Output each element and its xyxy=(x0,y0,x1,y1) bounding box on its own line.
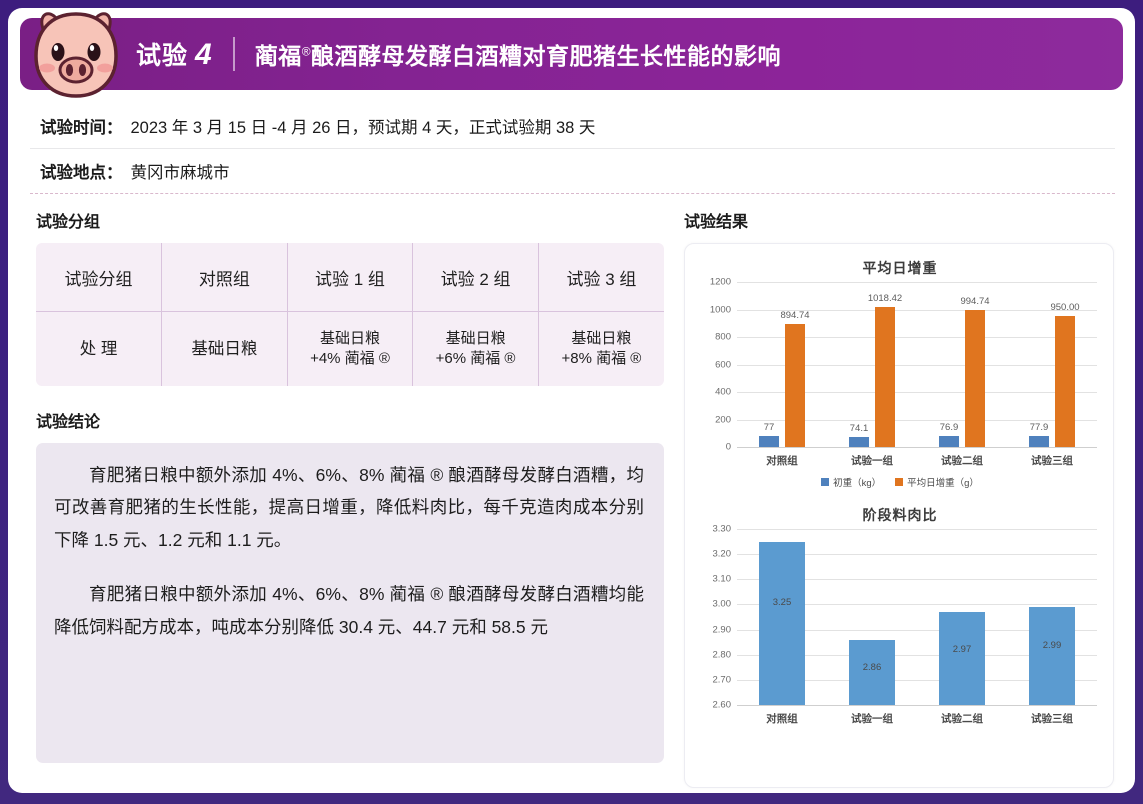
table-cell-treatment: 基础日粮 +4% 蔺福 ® xyxy=(287,312,413,387)
page-title-brand: 蔺福 xyxy=(255,43,302,69)
chart-bar-value-label: 77 xyxy=(764,422,775,433)
experiment-number: 4 xyxy=(195,38,213,72)
results-section-title: 试验结果 xyxy=(684,208,1116,232)
table-header-cell: 试验 2 组 xyxy=(413,243,539,312)
conclusion-paragraph: 育肥猪日粮中额外添加 4%、6%、8% 蔺福 ® 酿酒酵母发酵白酒糟，均可改善育… xyxy=(54,459,644,556)
page-header: 试验 4 蔺福®酿酒酵母发酵白酒糟对育肥猪生长性能的影响 xyxy=(20,18,1123,90)
left-column: 试验分组 试验分组 对照组 试验 1 组 试验 2 组 试验 3 组 处 理 基… xyxy=(36,208,666,763)
chart-legend-swatch xyxy=(821,478,829,486)
chart-plot-area: 12001000800600400200077894.7474.11018.42… xyxy=(737,282,1097,447)
chart-bar-value-label: 2.99 xyxy=(1043,640,1062,651)
meta-time-value: 2023 年 3 月 15 日 -4 月 26 日，预试期 4 天，正式试验期 … xyxy=(131,114,596,138)
chart-legend-swatch xyxy=(895,478,903,486)
chart-x-tick-label: 试验三组 xyxy=(1007,711,1097,726)
meta-row-time: 试验时间： 2023 年 3 月 15 日 -4 月 26 日，预试期 4 天，… xyxy=(30,104,1115,149)
chart-bar-group: 2.97 xyxy=(917,529,1007,705)
chart-bar-group: 3.25 xyxy=(737,529,827,705)
chart-y-tick-label: 3.10 xyxy=(713,574,732,585)
table-header-cell: 对照组 xyxy=(162,243,288,312)
chart-bar[interactable]: 2.86 xyxy=(849,640,895,705)
chart-legend: 初重（kg）平均日增重（g） xyxy=(693,475,1107,489)
chart-x-tick-label: 试验一组 xyxy=(827,453,917,468)
chart-bar-value-label: 950.00 xyxy=(1050,302,1079,313)
treatment-line2: +4% 蔺福 ® xyxy=(310,350,390,367)
chart-y-tick-label: 3.30 xyxy=(713,524,732,535)
chart-bar-group: 76.9994.74 xyxy=(917,282,1007,447)
chart-x-tick-label: 对照组 xyxy=(737,453,827,468)
chart-y-tick-label: 200 xyxy=(715,414,731,425)
meta-place-label: 试验地点： xyxy=(40,159,123,183)
chart-bar[interactable]: 1018.42 xyxy=(875,307,895,447)
right-column: 试验结果 平均日增重 12001000800600400200077894.74… xyxy=(684,208,1116,788)
chart-bar[interactable]: 894.74 xyxy=(785,324,805,447)
table-cell-treatment: 基础日粮 +6% 蔺福 ® xyxy=(413,312,539,387)
chart-bar-value-label: 894.74 xyxy=(780,310,809,321)
chart-y-tick-label: 1200 xyxy=(710,277,731,288)
chart-bar-group: 2.86 xyxy=(827,529,917,705)
chart-y-tick-label: 600 xyxy=(715,359,731,370)
content-card: 试验 4 蔺福®酿酒酵母发酵白酒糟对育肥猪生长性能的影响 xyxy=(8,8,1135,793)
chart-bar[interactable]: 950.00 xyxy=(1055,316,1075,447)
chart-x-axis: 对照组试验一组试验二组试验三组 xyxy=(737,705,1097,726)
meta-place-value: 黄冈市麻城市 xyxy=(131,159,230,183)
chart-plot-area: 3.303.203.103.002.902.802.702.603.252.86… xyxy=(737,529,1097,705)
conclusion-box: 育肥猪日粮中额外添加 4%、6%、8% 蔺福 ® 酿酒酵母发酵白酒糟，均可改善育… xyxy=(36,443,664,763)
chart-bars: 3.252.862.972.99 xyxy=(737,529,1097,705)
chart-bars: 77894.7474.11018.4276.9994.7477.9950.00 xyxy=(737,282,1097,447)
chart-title: 阶段料肉比 xyxy=(693,505,1107,525)
experiment-label: 试验 4 xyxy=(136,36,213,72)
outer-frame: 试验 4 蔺福®酿酒酵母发酵白酒糟对育肥猪生长性能的影响 xyxy=(0,0,1143,804)
chart-bar-group: 77.9950.00 xyxy=(1007,282,1097,447)
table-row-label: 处 理 xyxy=(36,312,162,387)
chart-bar-group: 74.11018.42 xyxy=(827,282,917,447)
conclusion-section-title: 试验结论 xyxy=(36,408,666,432)
chart-x-axis: 对照组试验一组试验二组试验三组 xyxy=(737,447,1097,468)
table-header-cell: 试验 1 组 xyxy=(287,243,413,312)
chart-bar[interactable]: 994.74 xyxy=(965,310,985,447)
chart-bar[interactable]: 2.97 xyxy=(939,612,985,705)
chart-y-tick-label: 2.70 xyxy=(713,674,732,685)
chart-bar-group: 77894.74 xyxy=(737,282,827,447)
chart-average-daily-gain: 平均日增重 12001000800600400200077894.7474.11… xyxy=(693,258,1107,489)
chart-y-tick-label: 400 xyxy=(715,387,731,398)
experiment-label-text: 试验 xyxy=(136,36,188,72)
chart-bar-value-label: 3.25 xyxy=(773,597,792,608)
table-cell-treatment: 基础日粮 xyxy=(162,312,288,387)
chart-bar[interactable]: 2.99 xyxy=(1029,607,1075,705)
meta-time-label: 试验时间： xyxy=(40,114,123,138)
chart-feed-conversion-ratio: 阶段料肉比 3.303.203.103.002.902.802.702.603.… xyxy=(693,505,1107,726)
page-title: 蔺福®酿酒酵母发酵白酒糟对育肥猪生长性能的影响 xyxy=(255,37,781,71)
chart-bar[interactable]: 3.25 xyxy=(759,542,805,705)
chart-bar-value-label: 74.1 xyxy=(850,423,869,434)
experiment-groups-table: 试验分组 对照组 试验 1 组 试验 2 组 试验 3 组 处 理 基础日粮 基… xyxy=(36,243,664,386)
chart-y-tick-label: 2.80 xyxy=(713,649,732,660)
chart-x-tick-label: 试验三组 xyxy=(1007,453,1097,468)
table-header-row: 试验分组 对照组 试验 1 组 试验 2 组 试验 3 组 xyxy=(36,243,664,312)
chart-legend-item[interactable]: 初重（kg） xyxy=(821,475,881,489)
chart-bar[interactable]: 74.1 xyxy=(849,437,869,447)
chart-y-tick-label: 800 xyxy=(715,332,731,343)
conclusion-paragraph: 育肥猪日粮中额外添加 4%、6%、8% 蔺福 ® 酿酒酵母发酵白酒糟均能降低饲料… xyxy=(54,578,644,643)
table-header-cell: 试验分组 xyxy=(36,243,162,312)
chart-legend-label: 初重（kg） xyxy=(833,475,881,489)
chart-bar-group: 2.99 xyxy=(1007,529,1097,705)
meta-row-place-subject: 试验地点： 黄冈市麻城市 试验对象： 76.5kg 左右生长猪 84 头 xyxy=(30,149,1115,194)
chart-x-tick-label: 试验二组 xyxy=(917,453,1007,468)
chart-bar-value-label: 1018.42 xyxy=(868,293,902,304)
chart-x-tick-label: 试验二组 xyxy=(917,711,1007,726)
treatment-line1: 基础日粮 xyxy=(446,330,506,347)
registered-mark-icon: ® xyxy=(302,44,311,58)
chart-y-tick-label: 3.00 xyxy=(713,599,732,610)
table-cell-treatment: 基础日粮 +8% 蔺福 ® xyxy=(538,312,664,387)
results-chart-card: 平均日增重 12001000800600400200077894.7474.11… xyxy=(684,243,1114,788)
chart-x-tick-label: 试验一组 xyxy=(827,711,917,726)
chart-bar[interactable]: 77.9 xyxy=(1029,436,1049,447)
chart-legend-item[interactable]: 平均日增重（g） xyxy=(895,475,979,489)
chart-x-tick-label: 对照组 xyxy=(737,711,827,726)
chart-bar-value-label: 76.9 xyxy=(940,422,959,433)
groups-section-title: 试验分组 xyxy=(36,208,666,232)
treatment-line1: 基础日粮 xyxy=(320,330,380,347)
chart-bar[interactable]: 77 xyxy=(759,436,779,447)
chart-bar-value-label: 77.9 xyxy=(1030,422,1049,433)
table-header-cell: 试验 3 组 xyxy=(538,243,664,312)
chart-legend-label: 平均日增重（g） xyxy=(907,475,979,489)
table-row: 处 理 基础日粮 基础日粮 +4% 蔺福 ® 基础日粮 +6% 蔺福 ® 基础日… xyxy=(36,312,664,387)
treatment-line2: +8% 蔺福 ® xyxy=(562,350,642,367)
chart-y-tick-label: 0 xyxy=(726,442,731,453)
chart-y-tick-label: 1000 xyxy=(710,304,731,315)
chart-bar[interactable]: 76.9 xyxy=(939,436,959,447)
chart-bar-value-label: 2.86 xyxy=(863,662,882,673)
chart-bar-value-label: 994.74 xyxy=(960,296,989,307)
pig-mascot-icon xyxy=(22,8,130,102)
treatment-line1: 基础日粮 xyxy=(571,330,631,347)
chart-y-tick-label: 2.90 xyxy=(713,624,732,635)
chart-bar-value-label: 2.97 xyxy=(953,644,972,655)
meta-section: 试验时间： 2023 年 3 月 15 日 -4 月 26 日，预试期 4 天，… xyxy=(30,104,1115,194)
header-divider xyxy=(233,37,235,71)
chart-y-tick-label: 2.60 xyxy=(713,700,732,711)
page-title-rest: 酿酒酵母发酵白酒糟对育肥猪生长性能的影响 xyxy=(311,43,781,69)
treatment-line2: +6% 蔺福 ® xyxy=(436,350,516,367)
chart-title: 平均日增重 xyxy=(693,258,1107,278)
chart-y-tick-label: 3.20 xyxy=(713,549,732,560)
